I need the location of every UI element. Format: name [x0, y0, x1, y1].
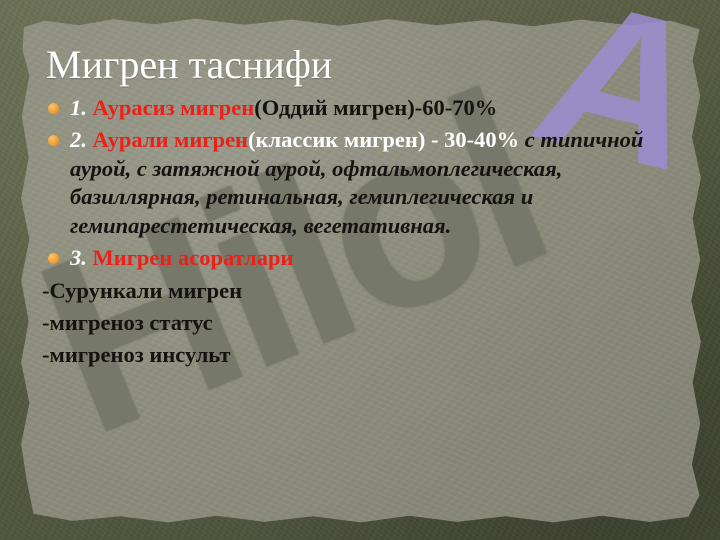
sub-line: -Сурункали мигрен: [42, 276, 694, 305]
list-item: 2. Аурали мигрен(классик мигрен) - 30-40…: [42, 126, 694, 241]
bullet-white-text: (классик мигрен) - 30-40%: [248, 127, 519, 152]
bullet-number: 3.: [70, 245, 87, 270]
bullet-list: 1. Аурасиз мигрен(Оддий мигрен)-60-70% 2…: [34, 94, 694, 273]
bullet-dark-text: (Оддий мигрен)-60-70%: [254, 95, 497, 120]
bullet-red-text: Аурали мигрен: [93, 127, 249, 152]
list-item: 3. Мигрен асоратлари: [42, 244, 694, 273]
list-item: 1. Аурасиз мигрен(Оддий мигрен)-60-70%: [42, 94, 694, 123]
sub-line: -мигреноз инсульт: [42, 340, 694, 369]
bullet-number: 1.: [70, 95, 87, 120]
slide-canvas: Hilol A Мигрен таснифи 1. Аурасиз мигрен…: [0, 0, 720, 540]
slide-content: Мигрен таснифи 1. Аурасиз мигрен(Оддий м…: [0, 0, 720, 540]
bullet-red-text: Аурасиз мигрен: [93, 95, 255, 120]
sub-line: -мигреноз статус: [42, 308, 694, 337]
page-title: Мигрен таснифи: [46, 44, 694, 86]
bullet-number: 2.: [70, 127, 87, 152]
bullet-red-text: Мигрен асоратлари: [93, 245, 294, 270]
